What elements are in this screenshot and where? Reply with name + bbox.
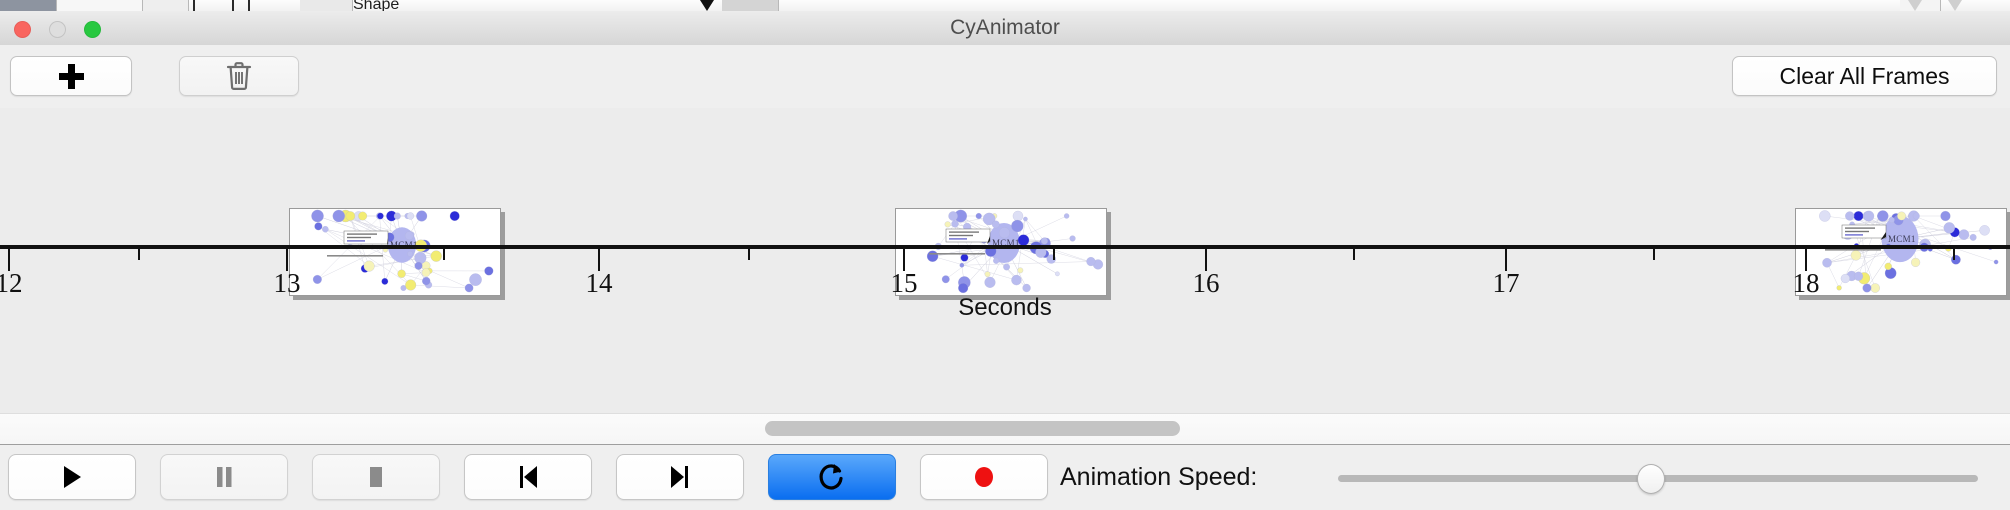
timeline-frame[interactable]: MCM1 — [895, 208, 1107, 296]
pause-button[interactable] — [160, 454, 288, 500]
animation-speed-label: Animation Speed: — [1060, 445, 1257, 510]
window-title: CyAnimator — [0, 11, 2010, 45]
stop-button[interactable] — [312, 454, 440, 500]
delete-frame-button[interactable] — [179, 56, 299, 96]
bg-chunk — [300, 0, 353, 11]
cyanimator-window: Shape CyAnimator Clear All Frames — [0, 0, 2010, 510]
axis-tick-minor — [1653, 249, 1655, 260]
bg-chunk — [722, 0, 779, 11]
playback-controls: Animation Speed: — [0, 445, 2010, 510]
pause-icon — [209, 462, 239, 492]
bg-divider — [193, 0, 195, 11]
skip-end-button[interactable] — [616, 454, 744, 500]
record-button[interactable] — [920, 454, 1048, 500]
frame-toolbar: Clear All Frames — [0, 45, 2010, 110]
network-thumbnail — [290, 209, 500, 295]
axis-tick-minor — [138, 249, 140, 260]
timeline-frame[interactable]: MCM1 — [289, 208, 501, 296]
network-thumbnail — [896, 209, 1106, 295]
timeline-scrollbar[interactable] — [0, 413, 2010, 446]
play-button[interactable] — [8, 454, 136, 500]
axis-title: Seconds — [0, 294, 2010, 322]
skip-end-icon — [665, 462, 695, 492]
trash-icon — [226, 61, 252, 91]
clear-all-frames-button[interactable]: Clear All Frames — [1732, 56, 1997, 96]
bg-chunk — [0, 0, 57, 11]
bg-marker — [1948, 0, 1962, 11]
title-bar: CyAnimator — [0, 11, 2010, 46]
network-thumbnail — [1796, 209, 2006, 295]
axis-tick-minor — [1953, 249, 1955, 260]
loop-icon — [817, 461, 847, 493]
axis-tick-minor — [748, 249, 750, 260]
bg-chunk — [57, 0, 143, 11]
stop-icon — [361, 462, 391, 492]
bg-divider — [248, 0, 250, 11]
bg-divider — [232, 0, 234, 11]
axis-tick-minor — [1353, 249, 1355, 260]
skip-start-button[interactable] — [464, 454, 592, 500]
axis-tick-minor — [443, 249, 445, 260]
bg-chunk — [143, 0, 189, 11]
add-frame-button[interactable] — [10, 56, 132, 96]
play-icon — [57, 462, 87, 492]
scrollbar-thumb[interactable] — [765, 421, 1180, 436]
timeline-frame[interactable]: MCM1 — [1795, 208, 2007, 296]
bg-marker — [1908, 0, 1922, 11]
clear-all-frames-label: Clear All Frames — [1780, 63, 1950, 90]
timeline-axis — [0, 245, 2010, 249]
loop-button[interactable] — [768, 454, 896, 500]
axis-tick-minor — [1053, 249, 1055, 260]
bg-marker — [700, 0, 714, 11]
timeline-panel[interactable]: MCM1MCM1MCM1 12131415161718 Seconds — [0, 108, 2010, 413]
record-icon — [969, 462, 999, 492]
skip-start-icon — [513, 462, 543, 492]
animation-speed-knob[interactable] — [1637, 464, 1665, 494]
plus-icon — [59, 64, 84, 89]
